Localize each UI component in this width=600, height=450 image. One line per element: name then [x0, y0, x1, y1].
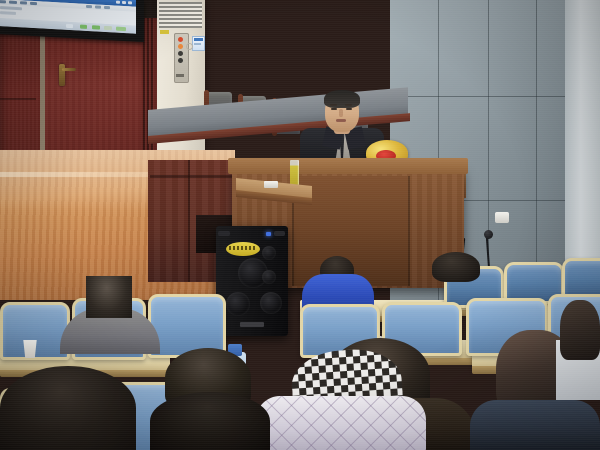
speaker-eyebrow-left: [330, 104, 337, 106]
audience-head-foreground-left: [0, 366, 136, 450]
pa-speaker-brand-plate: [240, 322, 264, 327]
air-conditioner-sticker: [160, 30, 169, 34]
pa-speaker-handle-left: [218, 231, 230, 236]
air-conditioner-vent: [159, 2, 202, 28]
audience-head-center: [86, 276, 132, 318]
pa-speaker-handle-right: [274, 231, 285, 236]
audience-body-right: [470, 400, 600, 450]
speaker-eye-left: [331, 108, 337, 110]
speaker-mouth: [336, 119, 346, 122]
air-conditioner-wall-tag: [192, 36, 205, 51]
lecture-hall-photo: [0, 0, 600, 450]
ac-led-red-icon: [178, 37, 183, 42]
ac-led-orange-icon: [178, 44, 183, 49]
pa-speaker-power-led-icon: [266, 232, 271, 236]
tea-glass: [290, 160, 299, 186]
ac-led-off-2-icon: [178, 58, 183, 63]
air-conditioner-wall-circle: [186, 43, 193, 50]
projection-screen-surface: [0, 0, 136, 34]
audience-head-far-dark: [432, 252, 480, 282]
speaker-eye-right: [346, 108, 352, 110]
audience-quilted-jacket: [256, 396, 426, 450]
ac-led-off-icon: [178, 51, 183, 56]
audience-head-far-right: [560, 300, 600, 360]
wall-note-card: [495, 212, 509, 223]
ashtray: [264, 181, 278, 188]
podium-top-surface: [228, 158, 468, 174]
audience-head-foreground-left-2: [150, 392, 270, 450]
speaker-nose: [339, 109, 343, 117]
speaker-eyebrow-right: [345, 104, 352, 106]
door-handle-bar-icon[interactable]: [62, 68, 76, 71]
pa-speaker-badge-text: [229, 246, 255, 250]
air-conditioner-logo: [176, 74, 184, 77]
back-wall-right-edge: [565, 0, 600, 300]
microphone-head-icon: [484, 230, 493, 239]
